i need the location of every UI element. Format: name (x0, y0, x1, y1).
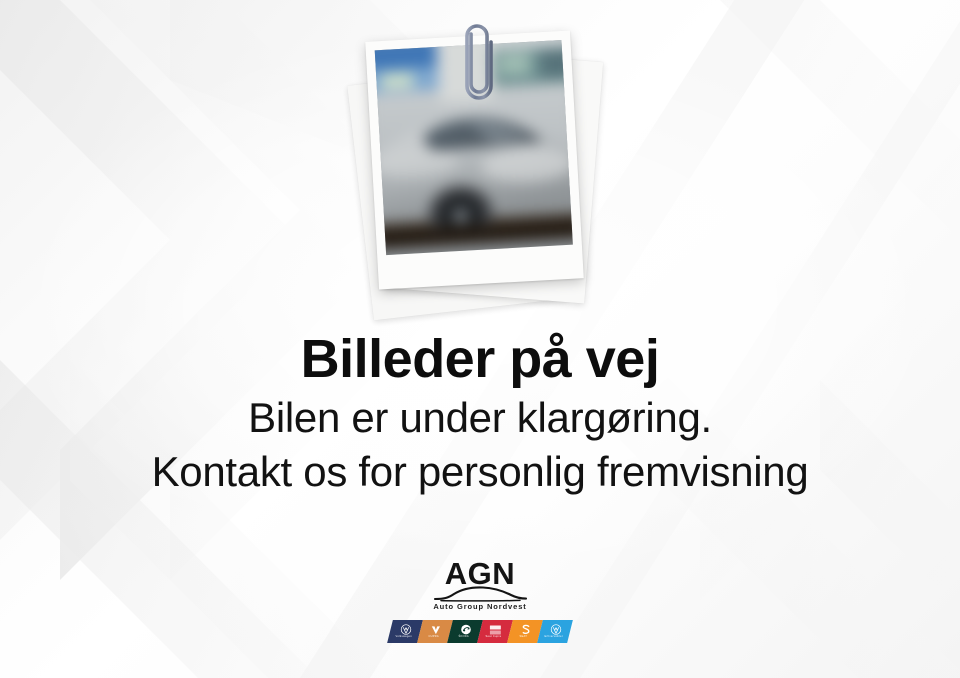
vw-logo-icon (400, 624, 411, 635)
brand-label: Seat Cupra (486, 635, 502, 638)
brand-label: Volkswagen (395, 636, 411, 639)
brand-bar: Volkswagen CUPRA ŠKODA (387, 620, 573, 643)
subline-secondary: Kontakt os for personlig fremvisning (0, 446, 960, 497)
car-silhouette-icon (432, 586, 528, 603)
seat-logo-icon (521, 624, 530, 635)
agn-logo: AGN Auto Group Nordvest Volkswagen (0, 558, 960, 643)
message-block: Billeder på vej Bilen er under klargørin… (0, 330, 960, 497)
brand-label: Erhvervsbiler (544, 636, 562, 639)
cupra-red-logo-icon (489, 624, 501, 634)
brand-label: ŠKODA (458, 636, 468, 639)
placeholder-image-card: Billeder på vej Bilen er under klargørin… (0, 0, 960, 678)
brand-label: CUPRA (428, 635, 438, 638)
logo-wordmark: AGN (445, 558, 515, 589)
subline-primary: Bilen er under klargøring. (0, 392, 960, 443)
skoda-logo-icon (460, 624, 471, 635)
brand-label: SEAT (520, 636, 528, 639)
brand-cell-erhvervsbiler[interactable]: Erhvervsbiler (537, 620, 573, 643)
logo-tagline: Auto Group Nordvest (433, 603, 526, 611)
headline: Billeder på vej (0, 330, 960, 388)
cupra-logo-icon (430, 624, 441, 634)
vw-commercial-logo-icon (550, 624, 561, 635)
paperclip-icon (455, 22, 503, 106)
